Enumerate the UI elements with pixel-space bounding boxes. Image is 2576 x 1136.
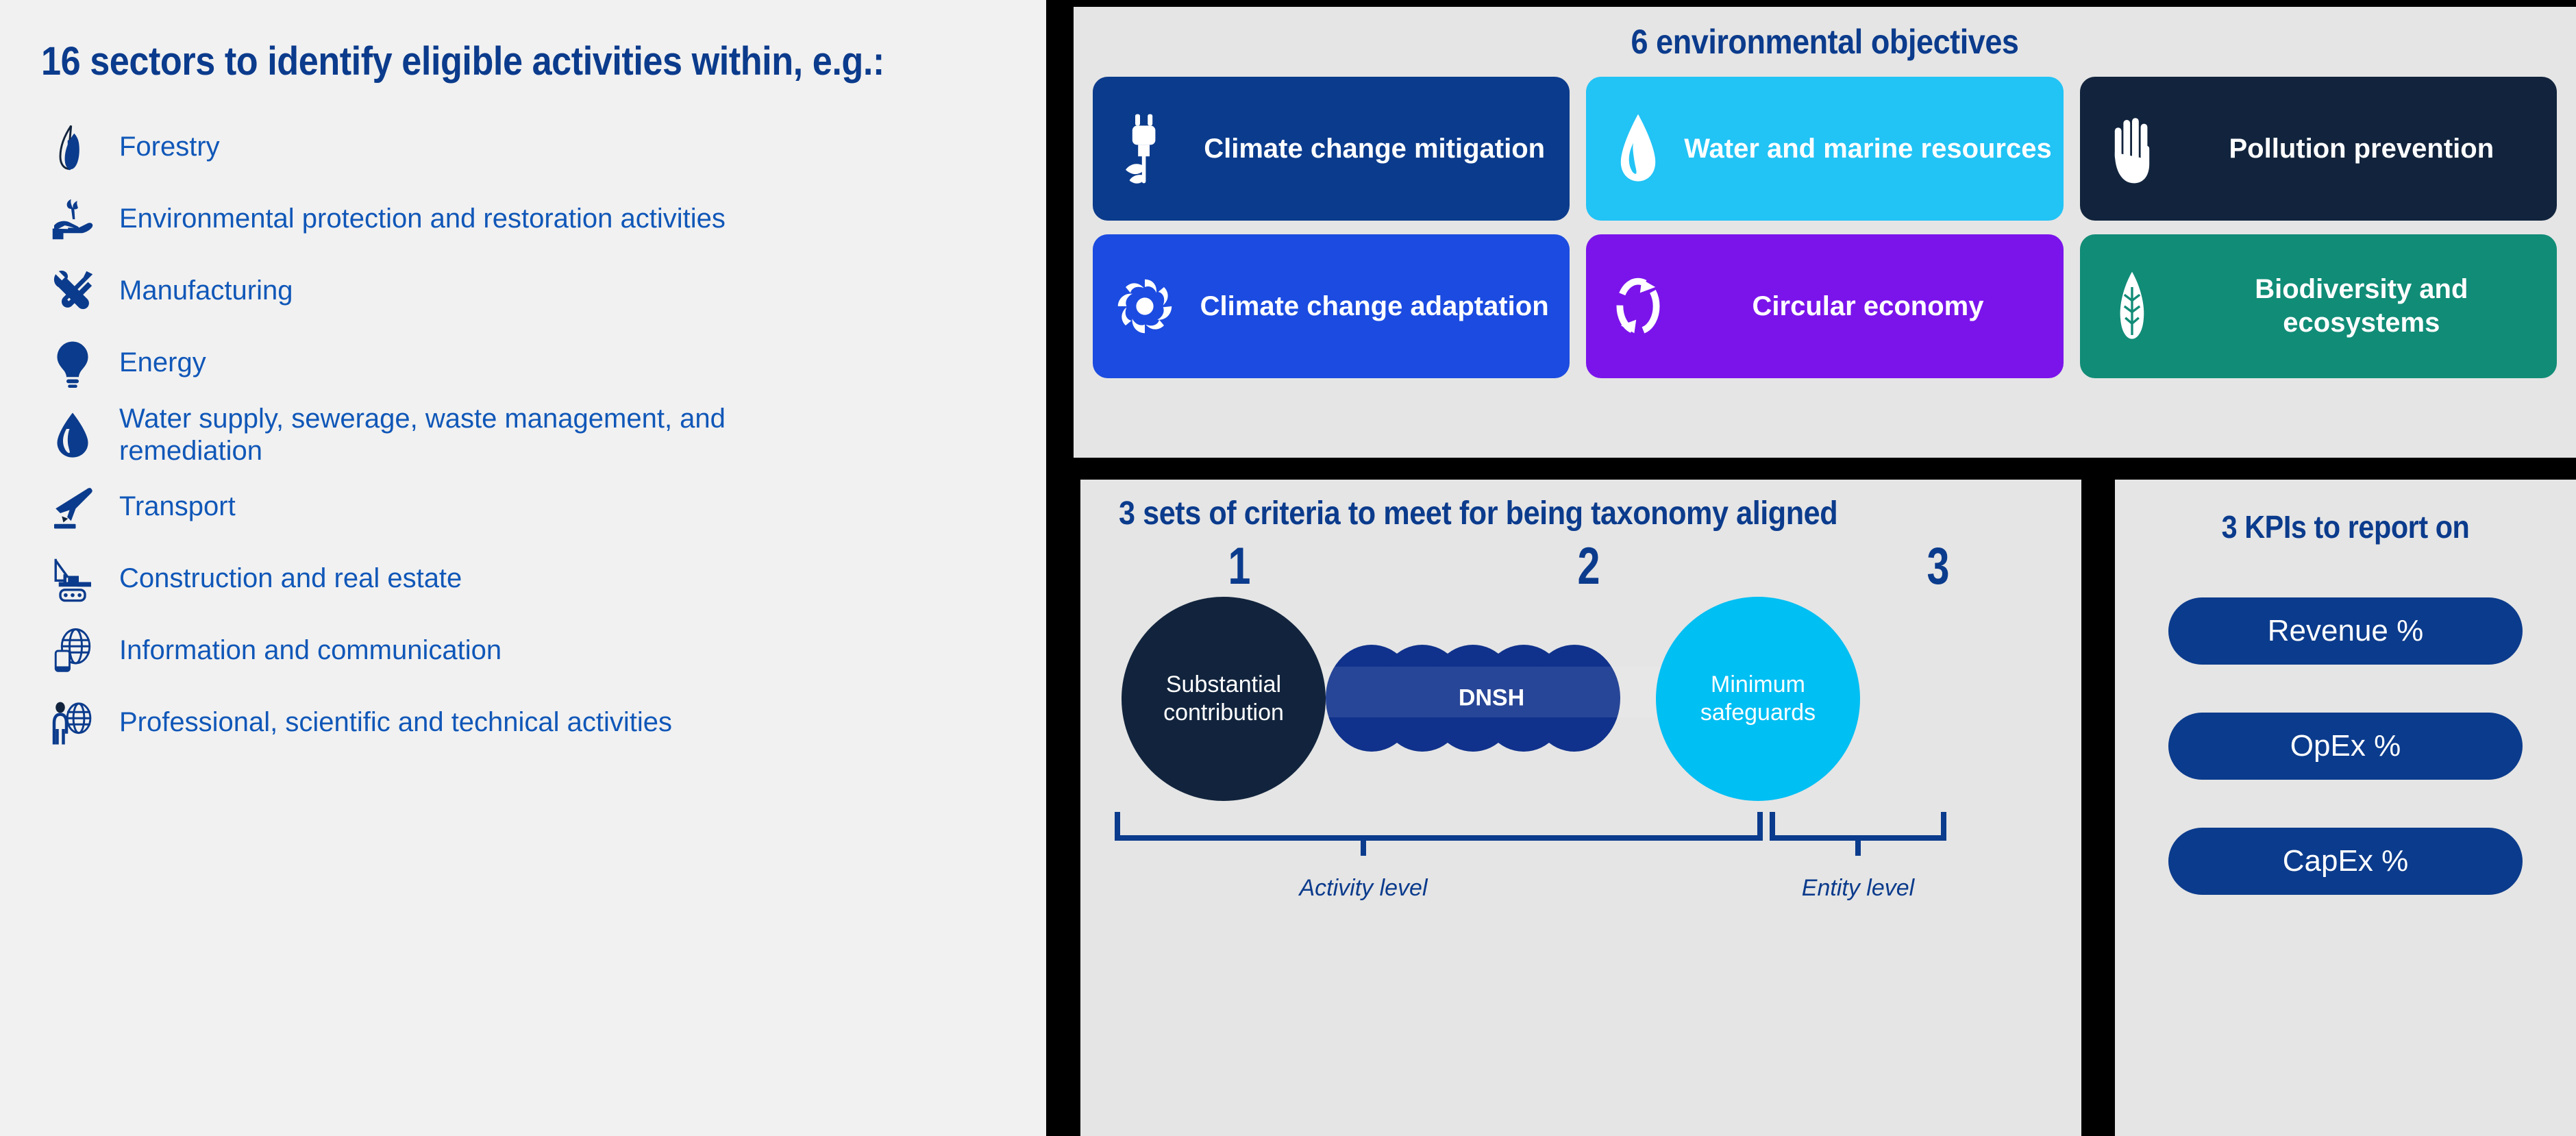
criteria-diagram: 1 2 3 DNSH Substantial contribution Mini… [1080,536,2081,1016]
objective-card-label: Climate change mitigation [1189,132,1560,166]
objectives-row-1: Climate change mitigation Water and mari… [1093,77,2557,221]
objective-card-biodiversity-and-ecosystems[interactable]: Biodiversity and ecosystems [2080,234,2557,378]
kpi-panel-title: 3 KPIs to report on [2138,508,2553,545]
kpi-pill-opex[interactable]: OpEx % [2168,713,2523,780]
hand-plant-icon [41,188,104,251]
kpi-label: CapEx % [2283,844,2408,878]
kpi-label: Revenue % [2268,614,2423,648]
bracket-label-entity-level: Entity level [1802,875,1914,902]
objective-card-circular-economy[interactable]: Circular economy [1586,234,2063,378]
airplane-icon [41,476,104,539]
sector-item-construction[interactable]: Construction and real estate [41,546,1005,612]
objective-card-water-and-marine-resources[interactable]: Water and marine resources [1586,77,2063,221]
kpi-panel: 3 KPIs to report on Revenue % OpEx % Cap… [2115,480,2576,1136]
objectives-row-2: Climate change adaptation Circular econo… [1093,234,2557,378]
substantial-contribution-label: Substantial contribution [1122,671,1326,728]
criteria-panel: 3 sets of criteria to meet for being tax… [1080,480,2081,1136]
leaf-icon [41,116,104,179]
minimum-safeguards-label: Minimum safeguards [1656,671,1860,728]
sector-item-label: Construction and real estate [119,563,462,595]
sector-item-label: Manufacturing [119,275,293,307]
minimum-safeguards-circle[interactable]: Minimum safeguards [1656,597,1860,801]
step-number-3: 3 [1927,536,1950,596]
person-globe-icon [41,691,104,754]
hand-stop-icon [2099,108,2165,190]
objectives-panel-title: 6 environmental objectives [1166,22,2484,62]
environmental-objectives-panel: 6 environmental objectives Climate chang… [1074,7,2576,458]
sector-item-label: Water supply, sewerage, waste management… [119,403,825,467]
objective-card-label: Biodiversity and ecosystems [2176,273,2547,340]
substantial-contribution-circle[interactable]: Substantial contribution [1122,597,1326,801]
plug-leaf-icon [1112,108,1178,190]
sector-item-information-communication[interactable]: Information and communication [41,618,1005,684]
globe-phone-icon [41,619,104,682]
excavator-icon [41,547,104,610]
sector-item-manufacturing[interactable]: Manufacturing [41,258,1005,324]
sector-item-label: Information and communication [119,634,501,667]
bracket-label-activity-level: Activity level [1299,875,1427,902]
criteria-panel-title: 3 sets of criteria to meet for being tax… [1119,495,1985,532]
objective-card-pollution-prevention[interactable]: Pollution prevention [2080,77,2557,221]
dnsh-label: DNSH [1459,685,1524,712]
sector-item-label: Environmental protection and restoration… [119,203,726,235]
step-number-2: 2 [1578,536,1600,596]
water-drop-icon [41,404,104,467]
objective-card-label: Water and marine resources [1682,132,2053,166]
objective-card-label: Circular economy [1682,290,2053,323]
kpi-pill-capex[interactable]: CapEx % [2168,828,2523,895]
step-number-1: 1 [1228,536,1251,596]
brackets-group [1080,808,2081,890]
objective-card-climate-change-adaptation[interactable]: Climate change adaptation [1093,234,1570,378]
objective-card-label: Climate change adaptation [1189,290,1560,323]
sectors-panel: 16 sectors to identify eligible activiti… [0,0,1046,1136]
sector-item-water-supply[interactable]: Water supply, sewerage, waste management… [41,402,1005,468]
kpi-pill-revenue[interactable]: Revenue % [2168,597,2523,665]
sector-item-forestry[interactable]: Forestry [41,114,1005,180]
droplet-icon [1605,108,1671,190]
sun-swirl-icon [1112,265,1178,347]
objective-card-climate-change-mitigation[interactable]: Climate change mitigation [1093,77,1570,221]
infographic-root: 16 sectors to identify eligible activiti… [0,0,2576,1136]
sectors-panel-title: 16 sectors to identify eligible activiti… [41,38,908,84]
recycle-circle-icon [1605,265,1671,347]
sector-item-energy[interactable]: Energy [41,330,1005,396]
sector-item-label: Energy [119,347,206,379]
kpi-list: Revenue % OpEx % CapEx % [2115,597,2576,895]
sector-item-label: Professional, scientific and technical a… [119,706,672,739]
sector-item-label: Transport [119,491,236,523]
tools-icon [41,260,104,323]
sector-item-label: Forestry [119,131,220,163]
lightbulb-icon [41,332,104,395]
sector-item-professional-scientific[interactable]: Professional, scientific and technical a… [41,690,1005,756]
objective-card-label: Pollution prevention [2176,132,2547,166]
kpi-label: OpEx % [2290,729,2401,763]
sector-item-transport[interactable]: Transport [41,474,1005,540]
sector-item-environmental-protection[interactable]: Environmental protection and restoration… [41,186,1005,252]
leaf-outline-icon [2099,265,2165,347]
